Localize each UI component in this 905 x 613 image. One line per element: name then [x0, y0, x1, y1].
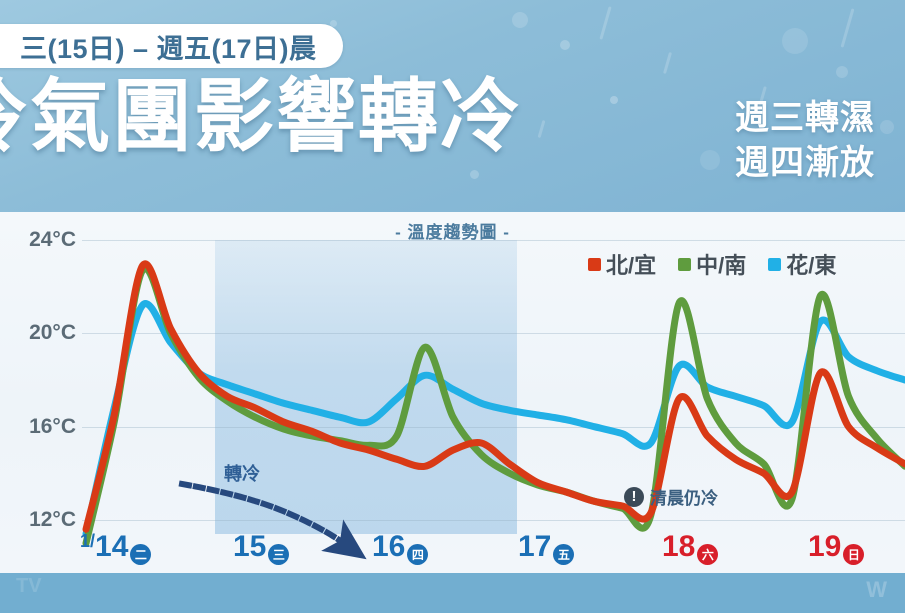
- x-axis-weekday-badge: 三: [268, 544, 289, 565]
- decorative-bokeh: [610, 96, 618, 104]
- legend-swatch-icon: [768, 258, 781, 271]
- legend-swatch-icon: [678, 258, 691, 271]
- x-axis-date: 18: [662, 532, 695, 562]
- decorative-bokeh: [782, 28, 808, 54]
- x-axis-date: 15: [233, 532, 266, 562]
- x-axis-tick-18: 18六: [662, 532, 718, 562]
- legend-label: 花/東: [786, 248, 836, 280]
- headline-title: 冷氣團影響轉冷: [0, 74, 522, 160]
- x-axis-date: 19: [808, 532, 841, 562]
- temperature-trend-chart: - 溫度趨勢圖 - 24°C 20°C 16°C 12°C 轉冷 ! 清晨仍冷 …: [0, 212, 905, 573]
- x-axis-tick-14: 1/14二: [80, 532, 151, 562]
- exclamation-icon: !: [624, 487, 644, 507]
- x-axis-weekday-badge: 二: [130, 544, 151, 565]
- x-axis-date: 16: [372, 532, 405, 562]
- date-range-pill: 三(15日) – 週五(17日)晨: [0, 24, 343, 68]
- x-axis-month: 1/: [80, 531, 95, 551]
- decorative-rain-streak: [841, 8, 855, 47]
- x-axis-tick-19: 19日: [808, 532, 864, 562]
- x-axis-ticks: 1/14二15三16四17五18六19日: [0, 530, 905, 573]
- decorative-rain-streak: [663, 52, 672, 74]
- x-axis-tick-16: 16四: [372, 532, 428, 562]
- watermark-right: W: [866, 577, 887, 603]
- decorative-bokeh: [512, 12, 528, 28]
- date-range-text: 三(15日) – 週五(17日)晨: [20, 27, 317, 66]
- legend-label: 北/宜: [606, 248, 656, 280]
- legend-item-central-south[interactable]: 中/南: [678, 248, 746, 280]
- header-forecast-note: 週三轉濕 週四漸放: [735, 96, 875, 186]
- x-axis-weekday-badge: 五: [553, 544, 574, 565]
- legend-swatch-icon: [588, 258, 601, 271]
- x-axis-tick-17: 17五: [518, 532, 574, 562]
- decorative-bokeh: [560, 40, 570, 50]
- x-axis-weekday-badge: 四: [407, 544, 428, 565]
- x-axis-date: 1/14: [80, 532, 128, 562]
- header-banner: 三(15日) – 週五(17日)晨 冷氣團影響轉冷 週三轉濕 週四漸放: [0, 0, 905, 212]
- morning-cold-note-text: 清晨仍冷: [650, 484, 718, 509]
- decorative-bokeh: [880, 120, 894, 134]
- header-note-line-2: 週四漸放: [735, 141, 875, 186]
- decorative-bokeh: [700, 150, 720, 170]
- x-axis-weekday-badge: 六: [697, 544, 718, 565]
- decorative-bokeh: [836, 66, 848, 78]
- legend-item-east[interactable]: 花/東: [768, 248, 836, 280]
- header-note-line-1: 週三轉濕: [735, 96, 875, 141]
- series-lines: [86, 264, 905, 544]
- decorative-rain-streak: [538, 120, 546, 138]
- chart-legend: 北/宜 中/南 花/東: [588, 248, 836, 280]
- x-axis-weekday-badge: 日: [843, 544, 864, 565]
- decorative-rain-streak: [599, 6, 611, 40]
- watermark-left: TV: [16, 575, 42, 598]
- cooling-trend-label: 轉冷: [224, 460, 260, 486]
- footer-bar: TV W: [0, 573, 905, 613]
- x-axis-date: 17: [518, 532, 551, 562]
- decorative-bokeh: [470, 170, 479, 179]
- legend-item-north[interactable]: 北/宜: [588, 248, 656, 280]
- legend-label: 中/南: [696, 248, 746, 280]
- morning-cold-note: ! 清晨仍冷: [624, 484, 718, 509]
- x-axis-tick-15: 15三: [233, 532, 289, 562]
